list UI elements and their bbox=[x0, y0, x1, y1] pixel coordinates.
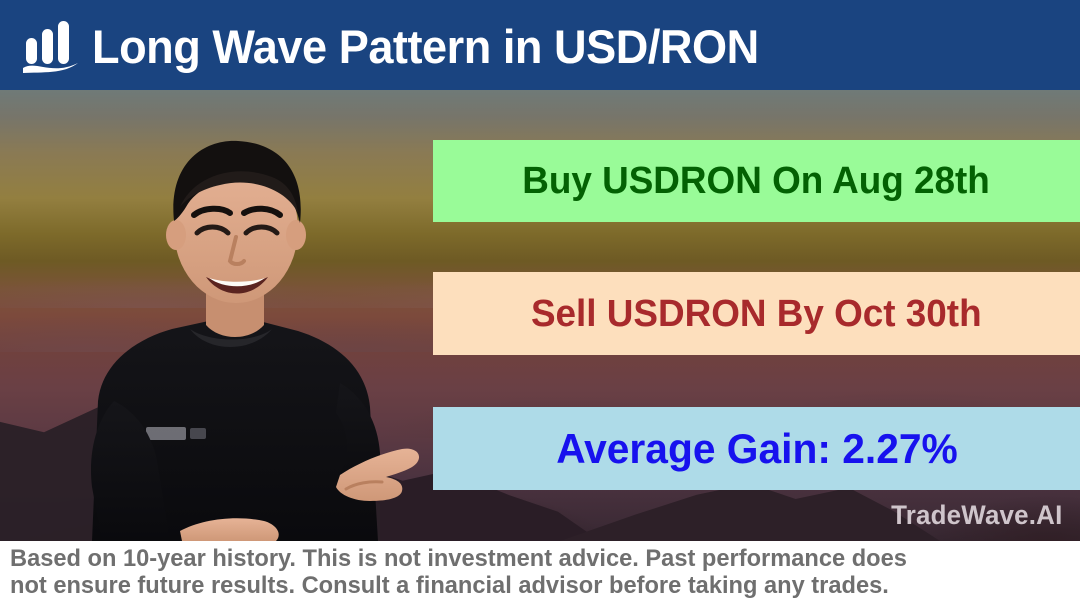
gain-banner: Average Gain: 2.27% bbox=[433, 407, 1080, 490]
brand-watermark: TradeWave.AI bbox=[891, 500, 1062, 531]
gain-banner-text: Average Gain: 2.27% bbox=[556, 428, 958, 470]
page-title: Long Wave Pattern in USD/RON bbox=[92, 23, 759, 70]
sell-banner-text: Sell USDRON By Oct 30th bbox=[531, 295, 982, 333]
bar-chart-wave-logo-icon bbox=[22, 18, 80, 74]
disclaimer-line-2: not ensure future results. Consult a fin… bbox=[10, 572, 1058, 599]
sell-banner: Sell USDRON By Oct 30th bbox=[433, 272, 1080, 355]
disclaimer-footer: Based on 10-year history. This is not in… bbox=[0, 541, 1080, 600]
presenter-photo bbox=[40, 101, 440, 541]
promo-poster: Long Wave Pattern in USD/RON bbox=[0, 0, 1080, 600]
disclaimer-line-1: Based on 10-year history. This is not in… bbox=[10, 545, 1058, 572]
buy-banner-text: Buy USDRON On Aug 28th bbox=[523, 162, 991, 200]
header-bar: Long Wave Pattern in USD/RON bbox=[0, 0, 1080, 90]
buy-banner: Buy USDRON On Aug 28th bbox=[433, 140, 1080, 222]
